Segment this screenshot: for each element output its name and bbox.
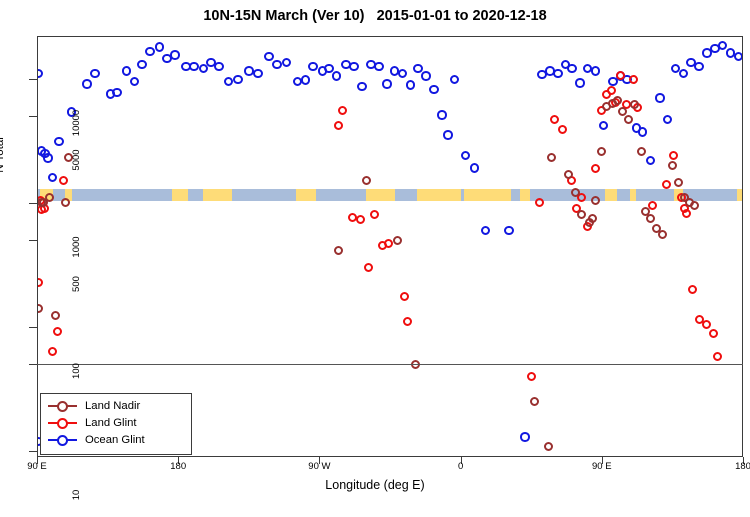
y-tick	[29, 327, 37, 328]
y-gridline	[37, 364, 743, 365]
chart-title: 10N-15N March (Ver 10) 2015-01-01 to 202…	[0, 8, 750, 24]
legend-marker-icon	[57, 401, 68, 412]
legend: Land NadirLand GlintOcean Glint	[40, 393, 192, 455]
y-axis-label: N Total	[0, 95, 6, 215]
legend-item[interactable]: Land Glint	[41, 415, 193, 431]
y-tick-label: 10000	[71, 101, 82, 145]
legend-label: Land Nadir	[85, 398, 140, 414]
y-tick	[29, 116, 37, 117]
x-tick-label: 0	[435, 461, 487, 472]
legend-marker-icon	[57, 418, 68, 429]
x-axis-label: Longitude (deg E)	[0, 478, 750, 492]
x-tick-label: 180	[152, 461, 204, 472]
legend-label: Ocean Glint	[85, 432, 145, 448]
x-tick-label: 90 W	[293, 461, 345, 472]
y-tick	[29, 79, 37, 80]
chart-root: 10N-15N March (Ver 10) 2015-01-01 to 202…	[0, 0, 750, 500]
x-tick-label: 90 E	[576, 461, 628, 472]
legend-marker-icon	[57, 435, 68, 446]
legend-item[interactable]: Land Nadir	[41, 398, 193, 414]
legend-item[interactable]: Ocean Glint	[41, 432, 193, 448]
x-tick-label: 90 E	[11, 461, 63, 472]
y-tick	[29, 203, 37, 204]
x-tick-label: 180	[717, 461, 750, 472]
y-tick	[29, 364, 37, 365]
y-tick	[29, 240, 37, 241]
y-tick-label: 1000	[71, 225, 82, 269]
legend-label: Land Glint	[85, 415, 137, 431]
y-tick-label: 100	[71, 349, 82, 393]
y-tick	[29, 451, 37, 452]
